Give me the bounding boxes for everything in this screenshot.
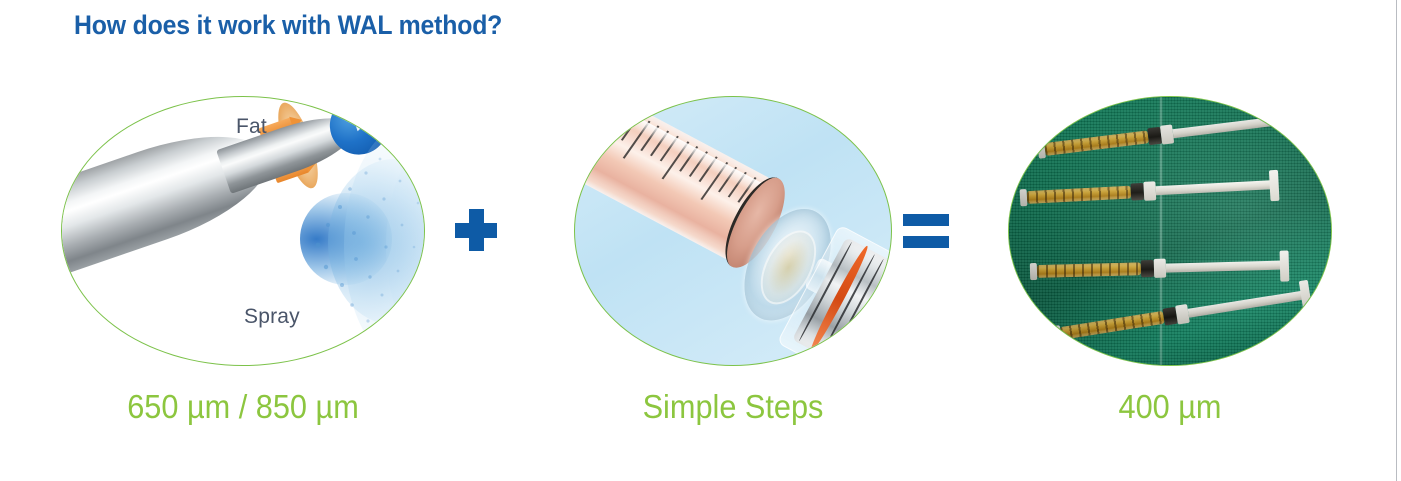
spray-tail — [386, 139, 425, 353]
drape-vignette — [1009, 97, 1331, 365]
panel-result — [1008, 96, 1332, 366]
panel-steps-ellipse-frame — [574, 96, 892, 366]
syringe-assembly-illustration — [575, 97, 891, 365]
panel-steps — [574, 96, 892, 366]
operator-plus-icon — [455, 209, 497, 251]
caption-simple-steps: Simple Steps — [585, 388, 881, 426]
equals-top-bar — [903, 214, 949, 226]
surgical-drape-photo — [1009, 97, 1331, 365]
equals-bottom-bar — [903, 236, 949, 248]
label-spray: Spray — [244, 305, 300, 329]
page-title: How does it work with WAL method? — [74, 10, 502, 41]
spray-wide — [344, 121, 425, 366]
exploded-syringe-group — [574, 96, 892, 366]
cannula-illustration: Fat Spray — [62, 97, 424, 365]
label-fat: Fat — [236, 115, 267, 139]
caption-cannula-size: 650 µm / 850 µm — [74, 388, 413, 426]
right-edge-rule — [1396, 0, 1397, 481]
caption-result-size: 400 µm — [1019, 388, 1320, 426]
plus-vertical-bar — [469, 209, 484, 251]
spray-droplets — [310, 129, 425, 361]
panel-result-ellipse-frame — [1008, 96, 1332, 366]
spray-mid — [328, 159, 425, 325]
spray-core — [300, 193, 392, 285]
panel-cannula: Fat Spray — [61, 96, 425, 366]
panel-cannula-ellipse-frame: Fat Spray — [61, 96, 425, 366]
operator-equals-icon — [903, 214, 949, 248]
cannula-assembly — [61, 102, 313, 279]
syringe-graduation-marks — [580, 99, 756, 229]
